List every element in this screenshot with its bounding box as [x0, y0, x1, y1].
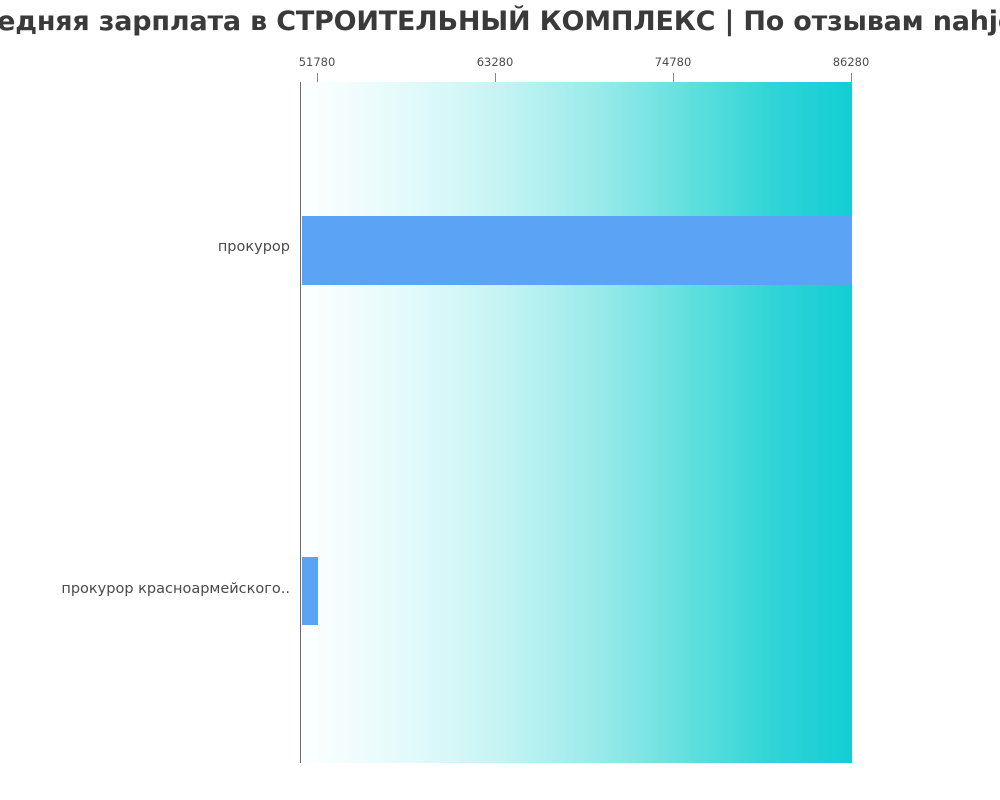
x-tick-label-2: 74780 [655, 55, 692, 69]
bar-prokuror-krasnoarmeyskogo[interactable] [302, 557, 318, 625]
x-tick-mark-0 [317, 73, 318, 82]
x-tick-mark-1 [495, 73, 496, 82]
chart-title: редняя зарплата в СТРОИТЕЛЬНЫЙ КОМПЛЕКС … [0, 0, 1000, 48]
y-axis-label-prokuror: прокурор [20, 239, 290, 255]
bar-prokuror[interactable] [302, 216, 852, 285]
x-tick-mark-3 [851, 73, 852, 82]
x-tick-label-1: 63280 [477, 55, 514, 69]
x-tick-label-0: 51780 [299, 55, 336, 69]
plot-area: 51780 63280 74780 86280 [300, 82, 852, 763]
y-axis-label-prokuror-krasnoarmeyskogo: прокурор красноармейского.. [20, 581, 290, 597]
x-tick-mark-2 [673, 73, 674, 82]
chart-title-text: редняя зарплата в СТРОИТЕЛЬНЫЙ КОМПЛЕКС … [0, 0, 1000, 44]
x-tick-label-3: 86280 [833, 55, 870, 69]
